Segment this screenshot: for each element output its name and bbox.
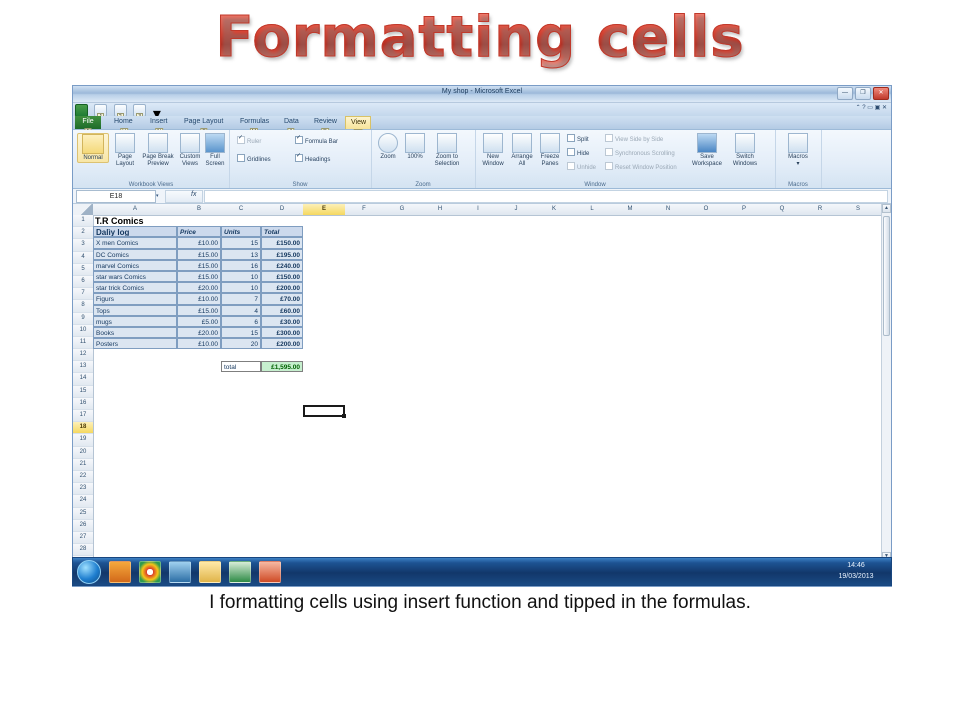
row-header-23[interactable]: 23 (73, 483, 93, 495)
cell-C7[interactable]: 10 (221, 282, 261, 293)
cell-D9[interactable]: £60.00 (261, 305, 303, 316)
cell-B12[interactable]: £10.00 (177, 338, 221, 349)
tab-home[interactable]: Home H (109, 116, 139, 129)
tab-insert-label: Insert (150, 118, 168, 125)
cell-C14-total-label[interactable]: total (221, 361, 261, 372)
tab-view-label: View (351, 119, 366, 126)
save-workspace-label: Save Workspace (692, 154, 722, 167)
col-header-L[interactable]: L (573, 204, 612, 215)
page-layout-view-label: Page Layout (116, 154, 134, 167)
row-header-18[interactable]: 18 (73, 422, 93, 434)
select-all-corner[interactable] (73, 204, 94, 215)
cell-C4[interactable]: 13 (221, 249, 261, 260)
page-break-icon (148, 133, 168, 153)
reset-window-position-label: Reset Window Position (615, 165, 677, 171)
cell-A2[interactable]: Dalìy log (93, 226, 177, 237)
sync-scroll-icon (605, 148, 613, 156)
cell-B8[interactable]: £10.00 (177, 293, 221, 304)
cell-A6[interactable]: star wars Comics (93, 271, 177, 282)
arrange-all-icon (512, 133, 532, 153)
tab-view[interactable]: View W (345, 116, 371, 129)
row-header-2[interactable]: 2 (73, 227, 93, 239)
cell-A5[interactable]: marvel Comics (93, 260, 177, 271)
tab-page-layout[interactable]: Page Layout P (179, 116, 229, 129)
tab-review[interactable]: Review R (309, 116, 341, 129)
hide-checkbox[interactable]: Hide (567, 148, 589, 158)
save-workspace-button[interactable]: Save Workspace (689, 133, 725, 168)
row-header-21[interactable]: 21 (73, 459, 93, 471)
row-header-13[interactable]: 13 (73, 361, 93, 373)
macros-label: Macros (788, 154, 808, 160)
cell-B4[interactable]: £15.00 (177, 249, 221, 260)
window-titlebar: My shop - Microsoft Excel — ❐ ✕ (73, 86, 891, 103)
cell-A3[interactable]: X men Comics (93, 237, 177, 248)
view-side-by-side-button[interactable]: View Side by Side (605, 134, 663, 144)
insert-function-icon[interactable]: fx (191, 191, 196, 198)
row-header-14[interactable]: 14 (73, 373, 93, 385)
row-header-12[interactable]: 12 (73, 349, 93, 361)
zoom-to-selection-button[interactable]: Zoom to Selection (429, 133, 465, 168)
vertical-scroll-thumb[interactable] (883, 216, 890, 336)
col-header-O[interactable]: O (687, 204, 726, 215)
tab-formulas-label: Formulas (240, 118, 269, 125)
formula-input[interactable] (204, 190, 888, 203)
page-title: Formatting cells (215, 6, 744, 70)
zoom-selection-icon (437, 133, 457, 153)
row-header-25[interactable]: 25 (73, 508, 93, 520)
folder-icon[interactable] (199, 561, 221, 583)
headings-checkbox[interactable]: Headings (295, 154, 330, 164)
cell-area: T.R Comics Dalìy log Price Units Total X… (93, 215, 891, 570)
tab-file-label: File (82, 118, 93, 125)
row-header-27[interactable]: 27 (73, 532, 93, 544)
row-header-19[interactable]: 19 (73, 434, 93, 446)
group-label-workbook-views: Workbook Views (73, 182, 229, 188)
split-label: Split (577, 137, 589, 143)
ribbon-group-window: New Window Arrange All Freeze Panes Spli… (475, 130, 776, 188)
row-header-17[interactable]: 17 (73, 410, 93, 422)
col-header-J[interactable]: J (497, 204, 536, 215)
cell-D11[interactable]: £300.00 (261, 327, 303, 338)
excel-window: My shop - Microsoft Excel — ❐ ✕ 1 2 3 ▾ … (72, 85, 892, 587)
slide: Formatting cells My shop - Microsoft Exc… (0, 0, 960, 720)
cell-A9[interactable]: Tops (93, 305, 177, 316)
custom-views-icon (180, 133, 200, 153)
gridlines-label: Gridlines (247, 157, 271, 163)
unhide-label: Unhide (577, 165, 596, 171)
formula-bar-checkbox[interactable]: Formula Bar (295, 136, 338, 146)
row-header-16[interactable]: 16 (73, 398, 93, 410)
new-window-button[interactable]: New Window (479, 133, 507, 168)
cell-B2[interactable]: Price (177, 226, 221, 237)
ruler-checkbox[interactable]: Ruler (237, 136, 261, 146)
media-player-icon[interactable] (109, 561, 131, 583)
tab-formulas[interactable]: Formulas M (235, 116, 273, 129)
quick-access-toolbar: 1 2 3 ▾ ⌃ ? ▭ ▣ ✕ (73, 103, 891, 116)
zoom-to-selection-label: Zoom to Selection (435, 154, 460, 167)
tab-review-label: Review (314, 118, 337, 125)
ribbon-group-zoom: Zoom 100% Zoom to Selection Zoom (371, 130, 476, 188)
magnifier-icon (378, 133, 398, 153)
slide-title-container: Formatting cells (0, 6, 960, 70)
group-label-window: Window (535, 182, 655, 188)
maximize-button[interactable]: ❐ (855, 87, 871, 100)
cell-A4[interactable]: DC Comics (93, 249, 177, 260)
synchronous-scrolling-label: Synchronous Scrolling (615, 151, 675, 157)
col-header-K[interactable]: K (535, 204, 574, 215)
cell-D4[interactable]: £195.00 (261, 249, 303, 260)
row-header-20[interactable]: 20 (73, 447, 93, 459)
hide-label: Hide (577, 151, 589, 157)
cell-A11[interactable]: Books (93, 327, 177, 338)
col-header-Q[interactable]: Q (763, 204, 802, 215)
save-workspace-icon (697, 133, 717, 153)
macros-icon (788, 133, 808, 153)
windows-taskbar: 14:46 19/03/2013 (72, 557, 892, 586)
cell-A12[interactable]: Posters (93, 338, 177, 349)
row-header-22[interactable]: 22 (73, 471, 93, 483)
cell-B9[interactable]: £15.00 (177, 305, 221, 316)
row-header-4[interactable]: 4 (73, 252, 93, 264)
col-header-H[interactable]: H (421, 204, 460, 215)
zoom-label: Zoom (380, 154, 395, 160)
ribbon: Normal Page Layout Page Break Preview Cu… (73, 130, 891, 189)
normal-view-icon (82, 134, 104, 154)
cell-C2[interactable]: Units (221, 226, 261, 237)
col-header-N[interactable]: N (649, 204, 688, 215)
cell-A8[interactable]: Figurs (93, 293, 177, 304)
clock-date: 19/03/2013 (825, 571, 887, 582)
row-header-1[interactable]: 1 (73, 215, 93, 227)
cell-A10[interactable]: mugs (93, 316, 177, 327)
tab-home-label: Home (114, 118, 133, 125)
full-screen-icon (205, 133, 225, 153)
ribbon-help-icons[interactable]: ⌃ ? ▭ ▣ ✕ (856, 104, 887, 111)
col-header-D[interactable]: D (261, 204, 304, 215)
col-header-P[interactable]: P (725, 204, 764, 215)
macros-button[interactable]: Macros ▾ (781, 133, 815, 168)
slide-caption: I formatting cells using insert function… (0, 592, 960, 614)
row-header-11[interactable]: 11 (73, 337, 93, 349)
row-header-9[interactable]: 9 (73, 313, 93, 325)
page-break-preview-label: Page Break Preview (142, 154, 173, 167)
ribbon-group-show: Ruler Gridlines Formula Bar Headings Sho… (229, 130, 372, 188)
name-box-dropdown-icon[interactable]: ▾ (156, 193, 159, 199)
switch-windows-button[interactable]: Switch Windows (727, 133, 763, 168)
unhide-icon (567, 162, 575, 170)
row-header-10[interactable]: 10 (73, 325, 93, 337)
cell-D2[interactable]: Total (261, 226, 303, 237)
cell-D3[interactable]: £150.00 (261, 237, 303, 248)
customize-qat-icon[interactable]: ▾ (153, 104, 161, 115)
cell-C5[interactable]: 16 (221, 260, 261, 271)
arrange-all-button[interactable]: Arrange All (509, 133, 535, 168)
col-header-S[interactable]: S (839, 204, 878, 215)
cell-B5[interactable]: £15.00 (177, 260, 221, 271)
cell-A1[interactable]: T.R Comics (95, 215, 195, 226)
taskbar-clock[interactable]: 14:46 19/03/2013 (825, 560, 887, 582)
page-layout-view-button[interactable]: Page Layout (111, 133, 139, 168)
row-header-5[interactable]: 5 (73, 264, 93, 276)
cell-B6[interactable]: £15.00 (177, 271, 221, 282)
switch-windows-label: Switch Windows (733, 154, 757, 167)
gridlines-checkbox[interactable]: Gridlines (237, 154, 271, 164)
cell-C6[interactable]: 10 (221, 271, 261, 282)
window-controls: — ❐ ✕ (837, 87, 889, 100)
cell-B10[interactable]: £5.00 (177, 316, 221, 327)
close-button[interactable]: ✕ (873, 87, 889, 100)
custom-views-button[interactable]: Custom Views (177, 133, 203, 168)
clock-time: 14:46 (825, 560, 887, 571)
cell-C3[interactable]: 15 (221, 237, 261, 248)
cell-C10[interactable]: 6 (221, 316, 261, 327)
row-header-7[interactable]: 7 (73, 288, 93, 300)
group-label-show: Show (229, 182, 371, 188)
ruler-label: Ruler (247, 139, 261, 145)
row-header-28[interactable]: 28 (73, 544, 93, 556)
vertical-scrollbar[interactable]: ▲ ▼ ▬ (881, 204, 891, 570)
zoom-100-label: 100% (407, 154, 422, 160)
cell-D6[interactable]: £150.00 (261, 271, 303, 282)
ruler-checkbox-box (237, 136, 245, 144)
ribbon-group-macros: Macros ▾ Macros (775, 130, 822, 188)
cell-D12[interactable]: £200.00 (261, 338, 303, 349)
full-screen-label: Full Screen (205, 154, 224, 167)
ribbon-tabs: File F Home H Insert N Page Layout P For… (73, 116, 891, 130)
row-header-3[interactable]: 3 (73, 239, 93, 251)
zoom-100-icon (405, 133, 425, 153)
tab-page-layout-label: Page Layout (184, 118, 223, 125)
minimize-button[interactable]: — (837, 87, 853, 100)
cell-D5[interactable]: £240.00 (261, 260, 303, 271)
synchronous-scrolling-button[interactable]: Synchronous Scrolling (605, 148, 675, 158)
row-header-8[interactable]: 8 (73, 300, 93, 312)
headings-checkbox-box (295, 154, 303, 162)
new-window-icon (483, 133, 503, 153)
gridlines-checkbox-box (237, 154, 245, 162)
col-header-F[interactable]: F (345, 204, 384, 215)
col-header-I[interactable]: I (459, 204, 498, 215)
worksheet-grid: A B C D E F G H I J K L M N O P Q R S T (73, 204, 891, 570)
headings-label: Headings (305, 157, 330, 163)
tab-file[interactable]: File F (75, 116, 101, 129)
group-label-zoom: Zoom (371, 182, 475, 188)
cell-C9[interactable]: 4 (221, 305, 261, 316)
cell-A7[interactable]: star trick Comics (93, 282, 177, 293)
powerpoint-icon[interactable] (259, 561, 281, 583)
tab-insert[interactable]: Insert N (145, 116, 173, 129)
arrange-all-label: Arrange All (511, 154, 532, 167)
col-header-M[interactable]: M (611, 204, 650, 215)
view-side-by-side-label: View Side by Side (615, 137, 663, 143)
selected-cell-E18[interactable] (303, 405, 345, 417)
row-header-15[interactable]: 15 (73, 386, 93, 398)
normal-view-label: Normal (83, 155, 102, 161)
cell-B7[interactable]: £20.00 (177, 282, 221, 293)
group-label-macros: Macros (775, 182, 821, 188)
custom-views-label: Custom Views (180, 154, 201, 167)
cell-D8[interactable]: £70.00 (261, 293, 303, 304)
freeze-panes-label: Freeze Panes (541, 154, 560, 167)
side-by-side-icon (605, 134, 613, 142)
name-box[interactable]: E18 (76, 190, 156, 203)
window-title: My shop - Microsoft Excel (73, 88, 891, 95)
macros-dropdown-arrow[interactable]: ▾ (781, 161, 815, 168)
freeze-panes-icon (540, 133, 560, 153)
row-header-26[interactable]: 26 (73, 520, 93, 532)
formula-bar-label: Formula Bar (305, 139, 338, 145)
cell-D10[interactable]: £30.00 (261, 316, 303, 327)
scroll-up-button[interactable]: ▲ (882, 204, 891, 213)
formula-bar-checkbox-box (295, 136, 303, 144)
cell-D14-total-value[interactable]: £1,595.00 (261, 361, 303, 372)
split-icon (567, 134, 575, 142)
zoom-100-button[interactable]: 100% (403, 133, 427, 161)
cell-B3[interactable]: £10.00 (177, 237, 221, 248)
row-header-24[interactable]: 24 (73, 495, 93, 507)
reset-window-icon (605, 162, 613, 170)
display-icon[interactable] (169, 561, 191, 583)
unhide-checkbox[interactable]: Unhide (567, 162, 596, 172)
freeze-panes-button[interactable]: Freeze Panes (537, 133, 563, 168)
col-header-C[interactable]: C (221, 204, 262, 215)
formula-bar: E18 ▾ fx (73, 189, 891, 204)
hide-icon (567, 148, 575, 156)
page-break-preview-button[interactable]: Page Break Preview (141, 133, 175, 168)
col-header-B[interactable]: B (177, 204, 222, 215)
normal-view-button[interactable]: Normal (77, 133, 109, 163)
col-header-R[interactable]: R (801, 204, 840, 215)
cell-C12[interactable]: 20 (221, 338, 261, 349)
row-header-6[interactable]: 6 (73, 276, 93, 288)
start-orb-icon[interactable] (77, 560, 101, 584)
split-checkbox[interactable]: Split (567, 134, 589, 144)
excel-icon[interactable] (229, 561, 251, 583)
switch-windows-icon (735, 133, 755, 153)
cell-C8[interactable]: 7 (221, 293, 261, 304)
full-screen-button[interactable]: Full Screen (203, 133, 227, 168)
col-header-G[interactable]: G (383, 204, 422, 215)
cell-D7[interactable]: £200.00 (261, 282, 303, 293)
col-header-E[interactable]: E (303, 204, 346, 215)
formula-bar-buttons (165, 190, 203, 203)
zoom-button[interactable]: Zoom (375, 133, 401, 161)
page-layout-icon (115, 133, 135, 153)
reset-window-position-button[interactable]: Reset Window Position (605, 162, 677, 172)
col-header-A[interactable]: A (93, 204, 178, 215)
cell-B11[interactable]: £20.00 (177, 327, 221, 338)
ribbon-group-workbook-views: Normal Page Layout Page Break Preview Cu… (73, 130, 230, 188)
chrome-icon[interactable] (139, 561, 161, 583)
new-window-label: New Window (482, 154, 503, 167)
tab-data-label: Data (284, 118, 299, 125)
tab-data[interactable]: Data A (279, 116, 303, 129)
cell-C11[interactable]: 15 (221, 327, 261, 338)
row-headers: 1234567891011121314151617181920212223242… (73, 215, 94, 570)
